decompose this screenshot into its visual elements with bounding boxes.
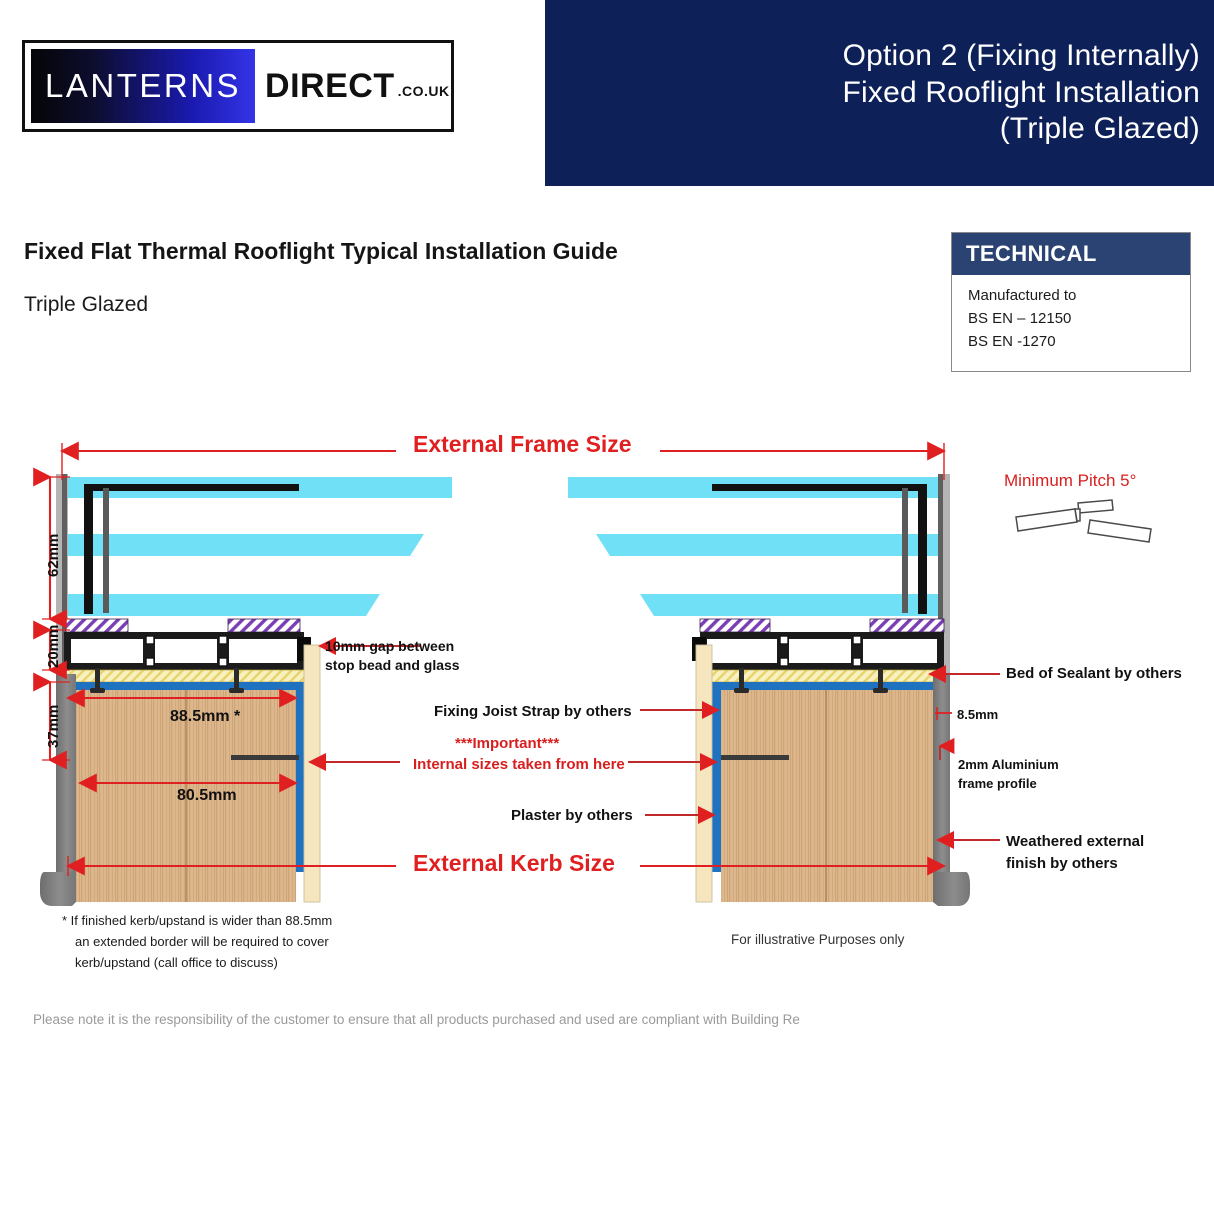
spacer-bar-top-left bbox=[84, 484, 299, 491]
label-alu-profile-line2: frame profile bbox=[958, 776, 1037, 793]
timber-kerb-right bbox=[721, 690, 933, 902]
spacer-inner-right bbox=[902, 488, 908, 613]
glass-pane-bottom-left bbox=[66, 594, 380, 616]
illustrative-note: For illustrative Purposes only bbox=[731, 932, 904, 947]
weathered-finish-return-left bbox=[40, 872, 76, 906]
label-internal-sizes: Internal sizes taken from here bbox=[413, 755, 625, 775]
installation-cross-section-diagram bbox=[0, 0, 1214, 1214]
plasterboard-left bbox=[304, 645, 320, 902]
right-section-assembly bbox=[568, 474, 970, 906]
label-weathered-line1: Weathered external bbox=[1006, 832, 1144, 852]
aluminium-frame-profile-left bbox=[64, 632, 304, 670]
spacer-bar-top-right bbox=[712, 484, 927, 491]
label-37mm: 37mm bbox=[45, 705, 62, 748]
aluminium-frame-profile-right bbox=[700, 632, 944, 670]
glass-pane-bottom-right bbox=[640, 594, 944, 616]
joist-strap-left bbox=[231, 755, 299, 760]
label-10mm-gap-line1: 10mm gap between bbox=[325, 637, 454, 655]
thermal-break-left-a bbox=[66, 619, 128, 632]
spacer-inner-left bbox=[103, 488, 109, 613]
label-20mm: 20mm bbox=[45, 625, 62, 668]
label-important: ***Important*** bbox=[455, 734, 559, 754]
label-weathered-line2: finish by others bbox=[1006, 854, 1118, 874]
minimum-pitch-icon bbox=[1016, 500, 1151, 542]
right-glazing-panes bbox=[568, 477, 944, 616]
label-alu-profile-line1: 2mm Aluminium bbox=[958, 757, 1059, 774]
label-fixing-joist-strap: Fixing Joist Strap by others bbox=[434, 702, 632, 722]
weathered-finish-right bbox=[933, 674, 950, 902]
bed-of-sealant-left bbox=[66, 670, 304, 682]
spacer-bar-vert-left bbox=[84, 484, 93, 614]
footnote-line-3: kerb/upstand (call office to discuss) bbox=[62, 952, 332, 973]
label-plaster-by-others: Plaster by others bbox=[511, 806, 633, 826]
footnote-line-1: * If finished kerb/upstand is wider than… bbox=[62, 910, 332, 931]
joist-strap-right bbox=[721, 755, 789, 760]
label-external-frame-size: External Frame Size bbox=[413, 430, 632, 460]
glass-pane-mid-right bbox=[596, 534, 944, 556]
left-glazing-panes bbox=[66, 477, 452, 616]
label-bed-of-sealant: Bed of Sealant by others bbox=[1006, 664, 1182, 684]
glass-pane-mid-left bbox=[66, 534, 424, 556]
disclaimer-text: Please note it is the responsibility of … bbox=[33, 1012, 800, 1027]
left-section-assembly bbox=[40, 474, 452, 906]
label-88-5mm: 88.5mm * bbox=[170, 707, 240, 728]
plasterboard-right bbox=[696, 645, 712, 902]
label-10mm-gap-line2: stop bead and glass bbox=[325, 656, 460, 674]
kerb-footnote: * If finished kerb/upstand is wider than… bbox=[62, 910, 332, 973]
thermal-break-left-b bbox=[228, 619, 300, 632]
thermal-break-right-b bbox=[870, 619, 944, 632]
label-62mm: 62mm bbox=[45, 534, 62, 577]
weathered-finish-return-right bbox=[933, 872, 970, 906]
label-8-5mm: 8.5mm bbox=[957, 707, 998, 724]
bed-of-sealant-right bbox=[700, 670, 944, 682]
spacer-bar-vert-right bbox=[918, 484, 927, 614]
thermal-break-right-a bbox=[700, 619, 770, 632]
label-80-5mm: 80.5mm bbox=[177, 786, 237, 807]
label-minimum-pitch: Minimum Pitch 5° bbox=[1004, 470, 1136, 492]
label-external-kerb-size: External Kerb Size bbox=[413, 849, 615, 879]
footnote-line-2: an extended border will be required to c… bbox=[62, 931, 332, 952]
